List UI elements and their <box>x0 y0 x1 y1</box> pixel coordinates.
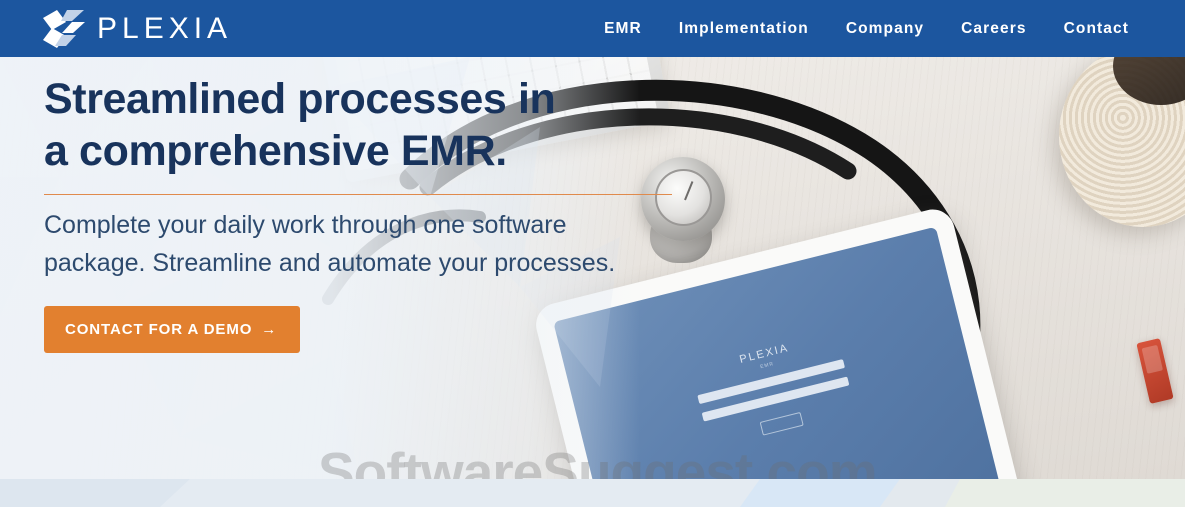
hero-section: PLEXIA EMR <box>0 57 1185 479</box>
hero-subcopy: Complete your daily work through one sof… <box>44 206 669 282</box>
nav-item-emr[interactable]: EMR <box>604 20 642 38</box>
cta-label: CONTACT FOR A DEMO <box>65 321 252 338</box>
page-root: PLEXIA EMR Implementation Company Career… <box>0 0 1185 507</box>
nav-item-contact[interactable]: Contact <box>1064 20 1129 38</box>
nav-item-company[interactable]: Company <box>846 20 924 38</box>
headline-divider <box>44 194 672 195</box>
nav-item-careers[interactable]: Careers <box>961 20 1026 38</box>
plexia-logo-icon <box>42 9 86 49</box>
bottom-strip-pattern <box>0 479 1185 507</box>
brand-name: PLEXIA <box>97 14 232 44</box>
hero-copy: Streamlined processes in a comprehensive… <box>44 74 724 353</box>
bottom-strip <box>0 479 1185 507</box>
brand-logo[interactable]: PLEXIA <box>42 9 232 49</box>
page-title: Streamlined processes in a comprehensive… <box>44 74 724 177</box>
headline-line-1: Streamlined processes in <box>44 75 555 123</box>
main-nav: EMR Implementation Company Careers Conta… <box>604 20 1129 38</box>
nav-item-implementation[interactable]: Implementation <box>679 20 809 38</box>
arrow-right-icon: → <box>261 322 277 337</box>
contact-for-a-demo-button[interactable]: CONTACT FOR A DEMO → <box>44 306 300 353</box>
site-header: PLEXIA EMR Implementation Company Career… <box>0 0 1185 57</box>
headline-line-2: a comprehensive EMR. <box>44 127 507 175</box>
tablet-login-button <box>760 412 804 436</box>
